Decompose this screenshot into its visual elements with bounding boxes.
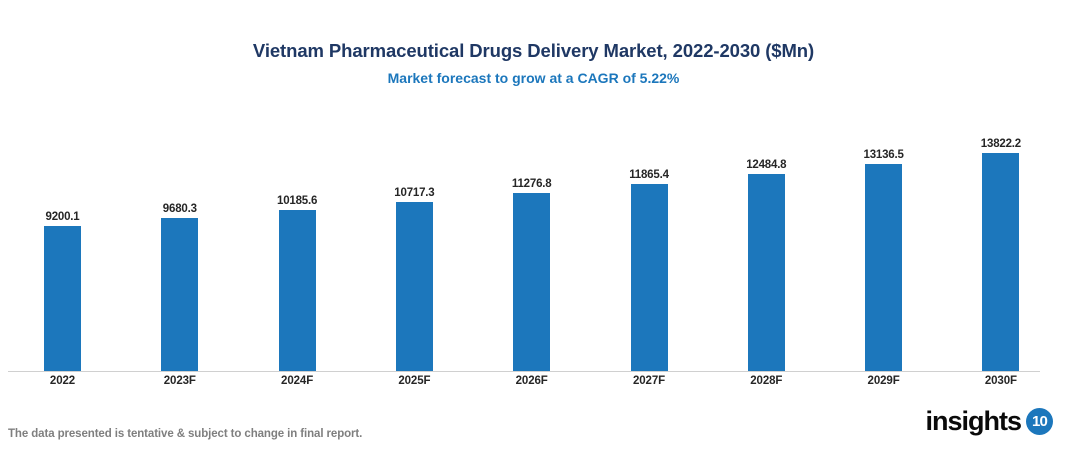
category-label-2028F: 2028F <box>721 375 811 387</box>
bar-rect[interactable] <box>279 210 316 371</box>
category-label-2027F: 2027F <box>604 375 694 387</box>
bar-value-label: 11865.4 <box>629 169 669 181</box>
category-label-2029F: 2029F <box>839 375 929 387</box>
bar-value-label: 10717.3 <box>394 187 434 199</box>
plot-area: 9200.19680.310185.610717.311276.811865.4… <box>0 110 1067 372</box>
bar-value-label: 10185.6 <box>277 195 317 207</box>
bar-2023F[interactable]: 9680.3 <box>161 218 198 371</box>
chart-subtitle: Market forecast to grow at a CAGR of 5.2… <box>0 68 1067 88</box>
logo-badge-icon: 10 <box>1026 408 1053 435</box>
bar-2022[interactable]: 9200.1 <box>44 226 81 371</box>
category-label-2026F: 2026F <box>487 375 577 387</box>
bar-rect[interactable] <box>865 164 902 371</box>
bar-2028F[interactable]: 12484.8 <box>748 174 785 371</box>
bar-value-label: 9680.3 <box>163 203 197 215</box>
bar-rect[interactable] <box>982 153 1019 371</box>
bar-value-label: 9200.1 <box>46 211 80 223</box>
bar-value-label: 13136.5 <box>864 149 904 161</box>
bar-rect[interactable] <box>396 202 433 371</box>
bar-value-label: 12484.8 <box>746 159 786 171</box>
x-axis-line <box>8 371 1040 372</box>
bar-rect[interactable] <box>161 218 198 371</box>
bar-rect[interactable] <box>44 226 81 371</box>
chart-title: Vietnam Pharmaceutical Drugs Delivery Ma… <box>0 40 1067 62</box>
bar-2027F[interactable]: 11865.4 <box>631 184 668 371</box>
category-label-2025F: 2025F <box>369 375 459 387</box>
insights10-logo: insights 10 <box>925 407 1053 435</box>
bar-rect[interactable] <box>513 193 550 371</box>
category-label-2022: 2022 <box>18 375 108 387</box>
category-label-2030F: 2030F <box>956 375 1046 387</box>
bar-2029F[interactable]: 13136.5 <box>865 164 902 371</box>
bar-value-label: 13822.2 <box>981 138 1021 150</box>
bar-2025F[interactable]: 10717.3 <box>396 202 433 371</box>
bar-value-label: 11276.8 <box>512 178 552 190</box>
bar-2024F[interactable]: 10185.6 <box>279 210 316 371</box>
category-label-2023F: 2023F <box>135 375 225 387</box>
bar-2030F[interactable]: 13822.2 <box>982 153 1019 371</box>
bar-rect[interactable] <box>748 174 785 371</box>
bar-2026F[interactable]: 11276.8 <box>513 193 550 371</box>
category-label-2024F: 2024F <box>252 375 342 387</box>
category-axis: 20222023F2024F2025F2026F2027F2028F2029F2… <box>0 375 1067 395</box>
chart-page: Vietnam Pharmaceutical Drugs Delivery Ma… <box>0 0 1067 454</box>
bar-rect[interactable] <box>631 184 668 371</box>
logo-wordmark: insights <box>925 407 1021 435</box>
disclaimer-text: The data presented is tentative & subjec… <box>8 428 362 440</box>
bars-layer: 9200.19680.310185.610717.311276.811865.4… <box>0 110 1067 371</box>
title-block: Vietnam Pharmaceutical Drugs Delivery Ma… <box>0 40 1067 88</box>
